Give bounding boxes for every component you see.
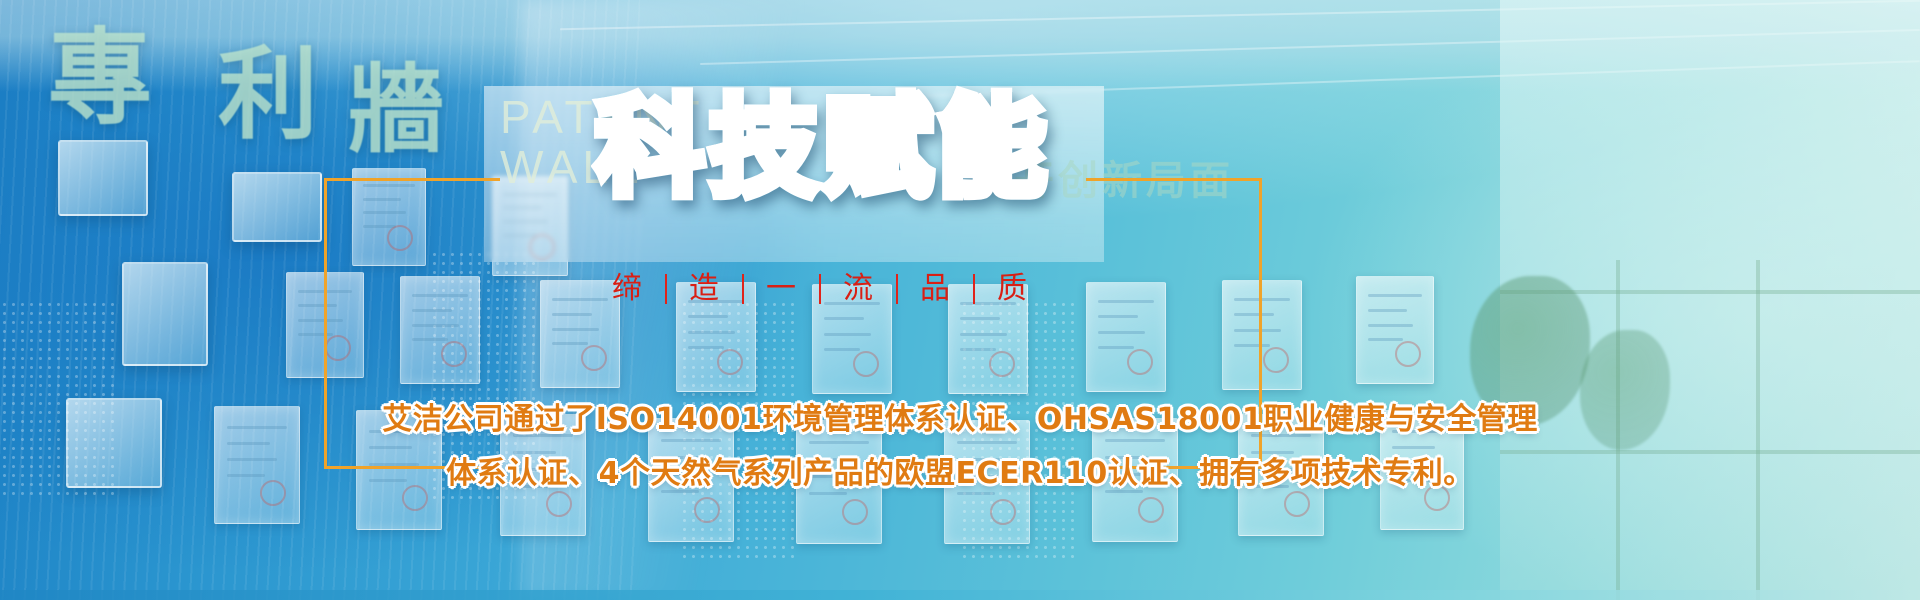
- patent-wall-banner: 專 利 牆 PATENT WALL 开创新局面 科技赋能 缔 造 一 流: [0, 0, 1920, 600]
- slogan-char-6: 质: [975, 272, 1050, 306]
- mullion: [1756, 260, 1760, 600]
- bracket-left: [324, 178, 327, 468]
- body-line-2: 体系认证、4个天然气系列产品的欧盟ECER110认证、拥有多项技术专利。: [355, 454, 1565, 494]
- slogan-char-3: 一: [744, 272, 819, 306]
- certificate-frame: [1222, 280, 1302, 390]
- wall-character-2: 利: [218, 44, 318, 144]
- certificate-frame: [1086, 282, 1166, 392]
- page-title: 科技赋能: [596, 92, 1052, 204]
- body-line-1: 艾洁公司通过了ISO14001环境管理体系认证、OHSAS18001职业健康与安…: [355, 400, 1565, 440]
- body-copy: 艾洁公司通过了ISO14001环境管理体系认证、OHSAS18001职业健康与安…: [355, 400, 1565, 508]
- bracket-top-right: [1086, 178, 1262, 181]
- slogan-char-5: 品: [898, 272, 973, 306]
- slogan-char-1: 缔: [590, 272, 665, 306]
- wall-photo: [232, 172, 322, 242]
- wall-character-3: 牆: [348, 62, 444, 158]
- bottom-accent-bar: [0, 590, 1920, 600]
- wall-photo: [122, 262, 208, 366]
- wall-dot-panel: [0, 300, 120, 500]
- slogan-char-2: 造: [667, 272, 742, 306]
- certificate-frame: [214, 406, 300, 524]
- certificate-frame: [400, 276, 480, 384]
- certificate-frame: [1356, 276, 1434, 384]
- certificate-frame: [352, 168, 426, 266]
- slogan-char-4: 流: [821, 272, 896, 306]
- wall-photo: [58, 140, 148, 216]
- wall-character-1: 專: [48, 26, 152, 130]
- slogan: 缔 造 一 流 品 质: [590, 272, 1050, 306]
- bracket-top-left: [324, 178, 500, 181]
